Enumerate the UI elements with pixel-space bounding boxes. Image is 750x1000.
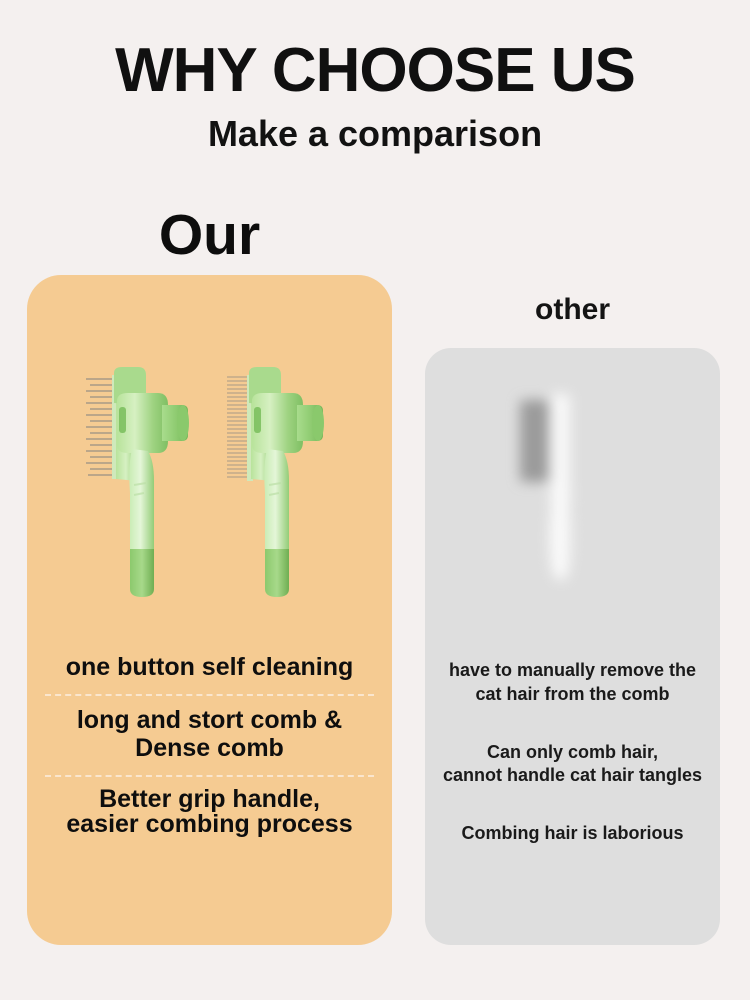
infographic-page: WHY CHOOSE US Make a comparison Our othe… [0, 0, 750, 1000]
our-column-label: Our [27, 206, 392, 266]
page-title: WHY CHOOSE US [0, 38, 750, 103]
other-column-label: other [425, 293, 720, 326]
our-product-images [27, 353, 392, 623]
page-subtitle: Make a comparison [0, 114, 750, 154]
feature-item: Better grip handle, easier combing proce… [27, 777, 392, 850]
feature-divider [45, 694, 374, 696]
feature-divider [45, 775, 374, 777]
our-product-card: one button self cleaning long and stort … [27, 275, 392, 945]
green-self-cleaning-brush-icon [70, 353, 200, 623]
our-feature-list: one button self cleaning long and stort … [27, 643, 392, 850]
other-product-card: have to manually remove the cat hair fro… [425, 348, 720, 945]
drawback-item: Can only comb hair, cannot handle cat ha… [425, 725, 720, 807]
drawback-item: have to manually remove the cat hair fro… [425, 643, 720, 725]
feature-item: one button self cleaning [27, 643, 392, 694]
green-dense-comb-brush-icon [205, 353, 335, 623]
drawback-item: Combing hair is laborious [425, 806, 720, 864]
white-pet-comb-icon [425, 378, 720, 608]
other-drawback-list: have to manually remove the cat hair fro… [425, 643, 720, 864]
feature-item: long and stort comb & Dense comb [27, 696, 392, 775]
